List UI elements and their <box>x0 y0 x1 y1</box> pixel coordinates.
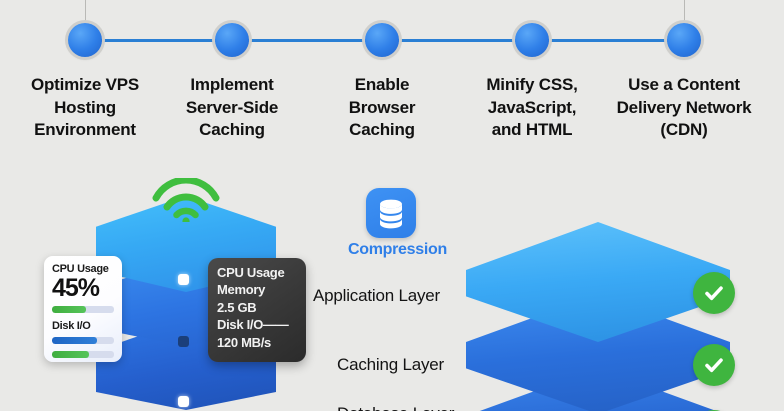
timeline-node-3[interactable] <box>365 23 399 57</box>
check-icon-1 <box>693 272 735 314</box>
layer-stack-illustration <box>466 222 730 411</box>
timeline-label-line: Optimize VPS <box>0 74 170 97</box>
layer-label-3: Database Layer <box>337 404 454 411</box>
timeline-label-line: JavaScript, <box>447 97 617 120</box>
timeline-node-2[interactable] <box>215 23 249 57</box>
timeline-label-line: Caching <box>297 119 467 142</box>
stats-card-line: 2.5 GB <box>217 299 297 316</box>
server-led-1 <box>178 274 189 285</box>
layer-slab-application <box>466 222 730 342</box>
check-icon-2 <box>693 344 735 386</box>
timeline-label-line: Implement <box>147 74 317 97</box>
server-stats-card: CPU UsageMemory2.5 GBDisk I/O——120 MB/s <box>208 258 306 362</box>
timeline-label-line: Enable <box>297 74 467 97</box>
database-icon <box>366 188 416 238</box>
compression-label: Compression <box>348 241 434 259</box>
cpu-bar <box>52 306 86 313</box>
timeline-label-3: EnableBrowserCaching <box>297 74 467 142</box>
compression-badge[interactable]: Compression <box>348 188 434 259</box>
timeline-label-2: ImplementServer-SideCaching <box>147 74 317 142</box>
timeline-label-1: Optimize VPSHostingEnvironment <box>0 74 170 142</box>
timeline-tick <box>684 0 685 22</box>
timeline-label-line: Environment <box>0 119 170 142</box>
stats-card-line: CPU Usage <box>217 264 297 281</box>
wifi-icon <box>148 178 224 222</box>
timeline-label-line: Browser <box>297 97 467 120</box>
cpu-usage-bar <box>52 306 114 313</box>
stats-card-line: 120 MB/s <box>217 334 297 351</box>
disk-io-bar-secondary <box>52 351 114 358</box>
timeline-label-4: Minify CSS,JavaScript,and HTML <box>447 74 617 142</box>
server-led-3 <box>178 396 189 407</box>
stats-card-line: Memory <box>217 281 297 298</box>
disk-io-bar-primary <box>52 337 114 344</box>
timeline-label-line: and HTML <box>447 119 617 142</box>
timeline-label-line: Hosting <box>0 97 170 120</box>
disk-io-label: Disk I/O <box>52 320 114 332</box>
timeline-label-line: Server-Side <box>147 97 317 120</box>
disk-bar-2 <box>52 351 89 358</box>
timeline-label-line: (CDN) <box>599 119 769 142</box>
disk-bar-1 <box>52 337 97 344</box>
cpu-usage-card: CPU Usage 45% Disk I/O <box>44 256 122 362</box>
timeline-label-5: Use a ContentDelivery Network(CDN) <box>599 74 769 142</box>
timeline-label-line: Use a Content <box>599 74 769 97</box>
timeline-node-5[interactable] <box>667 23 701 57</box>
timeline-node-4[interactable] <box>515 23 549 57</box>
server-led-2 <box>178 336 189 347</box>
timeline-node-1[interactable] <box>68 23 102 57</box>
timeline-label-line: Delivery Network <box>599 97 769 120</box>
timeline-label-line: Caching <box>147 119 317 142</box>
layer-label-2: Caching Layer <box>337 355 444 375</box>
infographic-canvas: Optimize VPSHostingEnvironmentImplementS… <box>0 0 784 411</box>
timeline-label-line: Minify CSS, <box>447 74 617 97</box>
layer-label-1: Application Layer <box>313 286 440 306</box>
cpu-usage-value: 45% <box>52 276 114 301</box>
stats-card-line: Disk I/O—— <box>217 316 297 333</box>
timeline-tick <box>85 0 86 22</box>
